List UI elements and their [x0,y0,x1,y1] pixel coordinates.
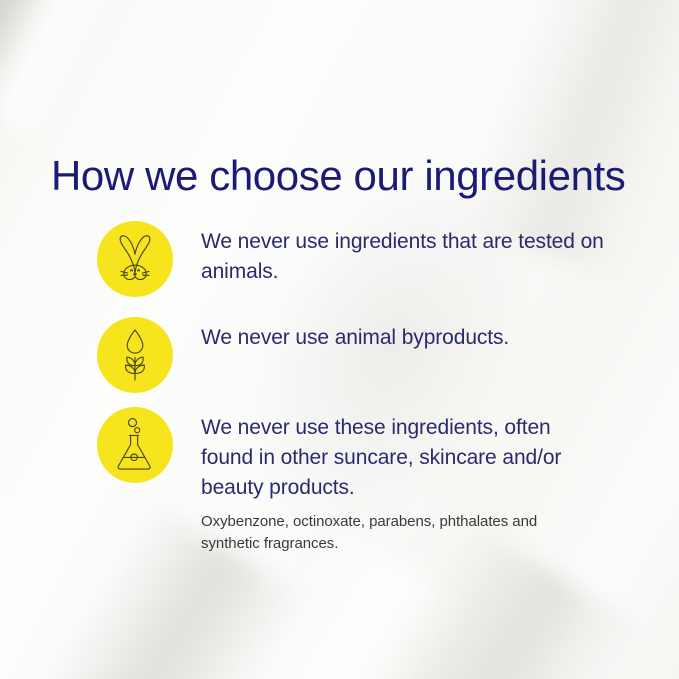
benefit-text: We never use animal byproducts. [201,323,509,353]
plant-droplet-icon [113,327,157,383]
benefit-text-block: We never use animal byproducts. [201,317,509,353]
benefit-text-block: We never use ingredients that are tested… [201,221,621,287]
bunny-heart-ears-icon [110,232,160,286]
benefit-text: We never use these ingredients, often fo… [201,413,601,503]
benefit-text: We never use ingredients that are tested… [201,227,621,287]
benefit-item-no-bad-chemicals: We never use these ingredients, often fo… [97,407,601,555]
page-title: How we choose our ingredients [51,150,625,202]
benefit-text-block: We never use these ingredients, often fo… [201,407,601,555]
flask-bubbles-icon [112,417,158,473]
badge-circle-vegan [97,317,173,393]
benefit-item-vegan: We never use animal byproducts. [97,317,509,393]
benefit-item-cruelty-free: We never use ingredients that are tested… [97,221,621,297]
benefit-subtext: Oxybenzone, octinoxate, parabens, phthal… [201,511,571,555]
content-layer: How we choose our ingredients [0,0,679,679]
badge-circle-no-bad-chemicals [97,407,173,483]
ingredient-philosophy-graphic: How we choose our ingredients [0,0,679,679]
badge-circle-cruelty-free [97,221,173,297]
